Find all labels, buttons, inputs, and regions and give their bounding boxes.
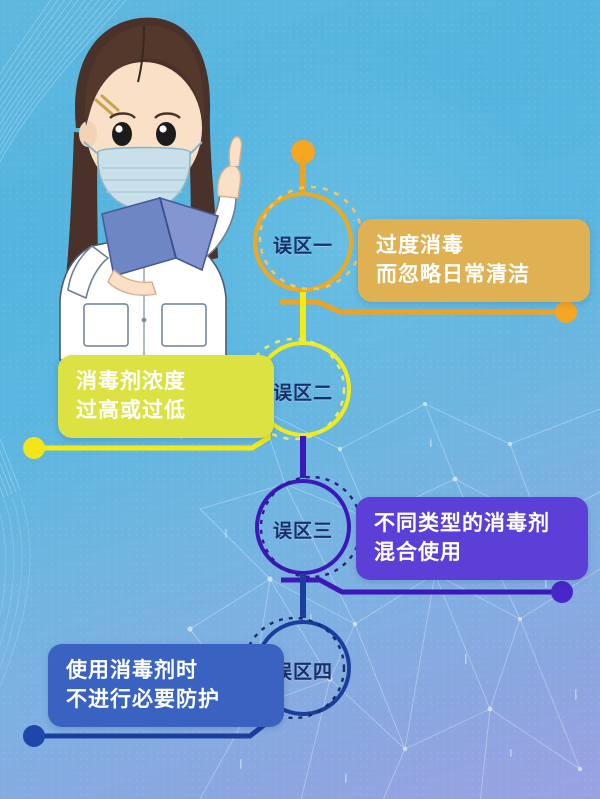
node-label-item-3: 误区三 — [255, 516, 351, 543]
node-label-item-1: 误区一 — [255, 231, 351, 258]
infographic-poster: 误区一 误区二 误区三 误区四 过度消毒 而忽略日常清洁 消毒剂浓度 过高或过低… — [0, 0, 600, 799]
callout-item-3: 不同类型的消毒剂 混合使用 — [356, 497, 588, 580]
end-dot-item-1 — [555, 301, 577, 323]
path-item-1 — [280, 302, 556, 312]
path-item-3 — [281, 580, 552, 592]
end-dot-item-4 — [23, 725, 45, 747]
callout-item-2: 消毒剂浓度 过高或过低 — [58, 355, 274, 438]
end-dot-item-3 — [551, 581, 573, 603]
end-dot-item-2 — [23, 437, 45, 459]
callout-item-1: 过度消毒 而忽略日常清洁 — [358, 219, 590, 302]
callout-item-4: 使用消毒剂时 不进行必要防护 — [48, 644, 284, 727]
